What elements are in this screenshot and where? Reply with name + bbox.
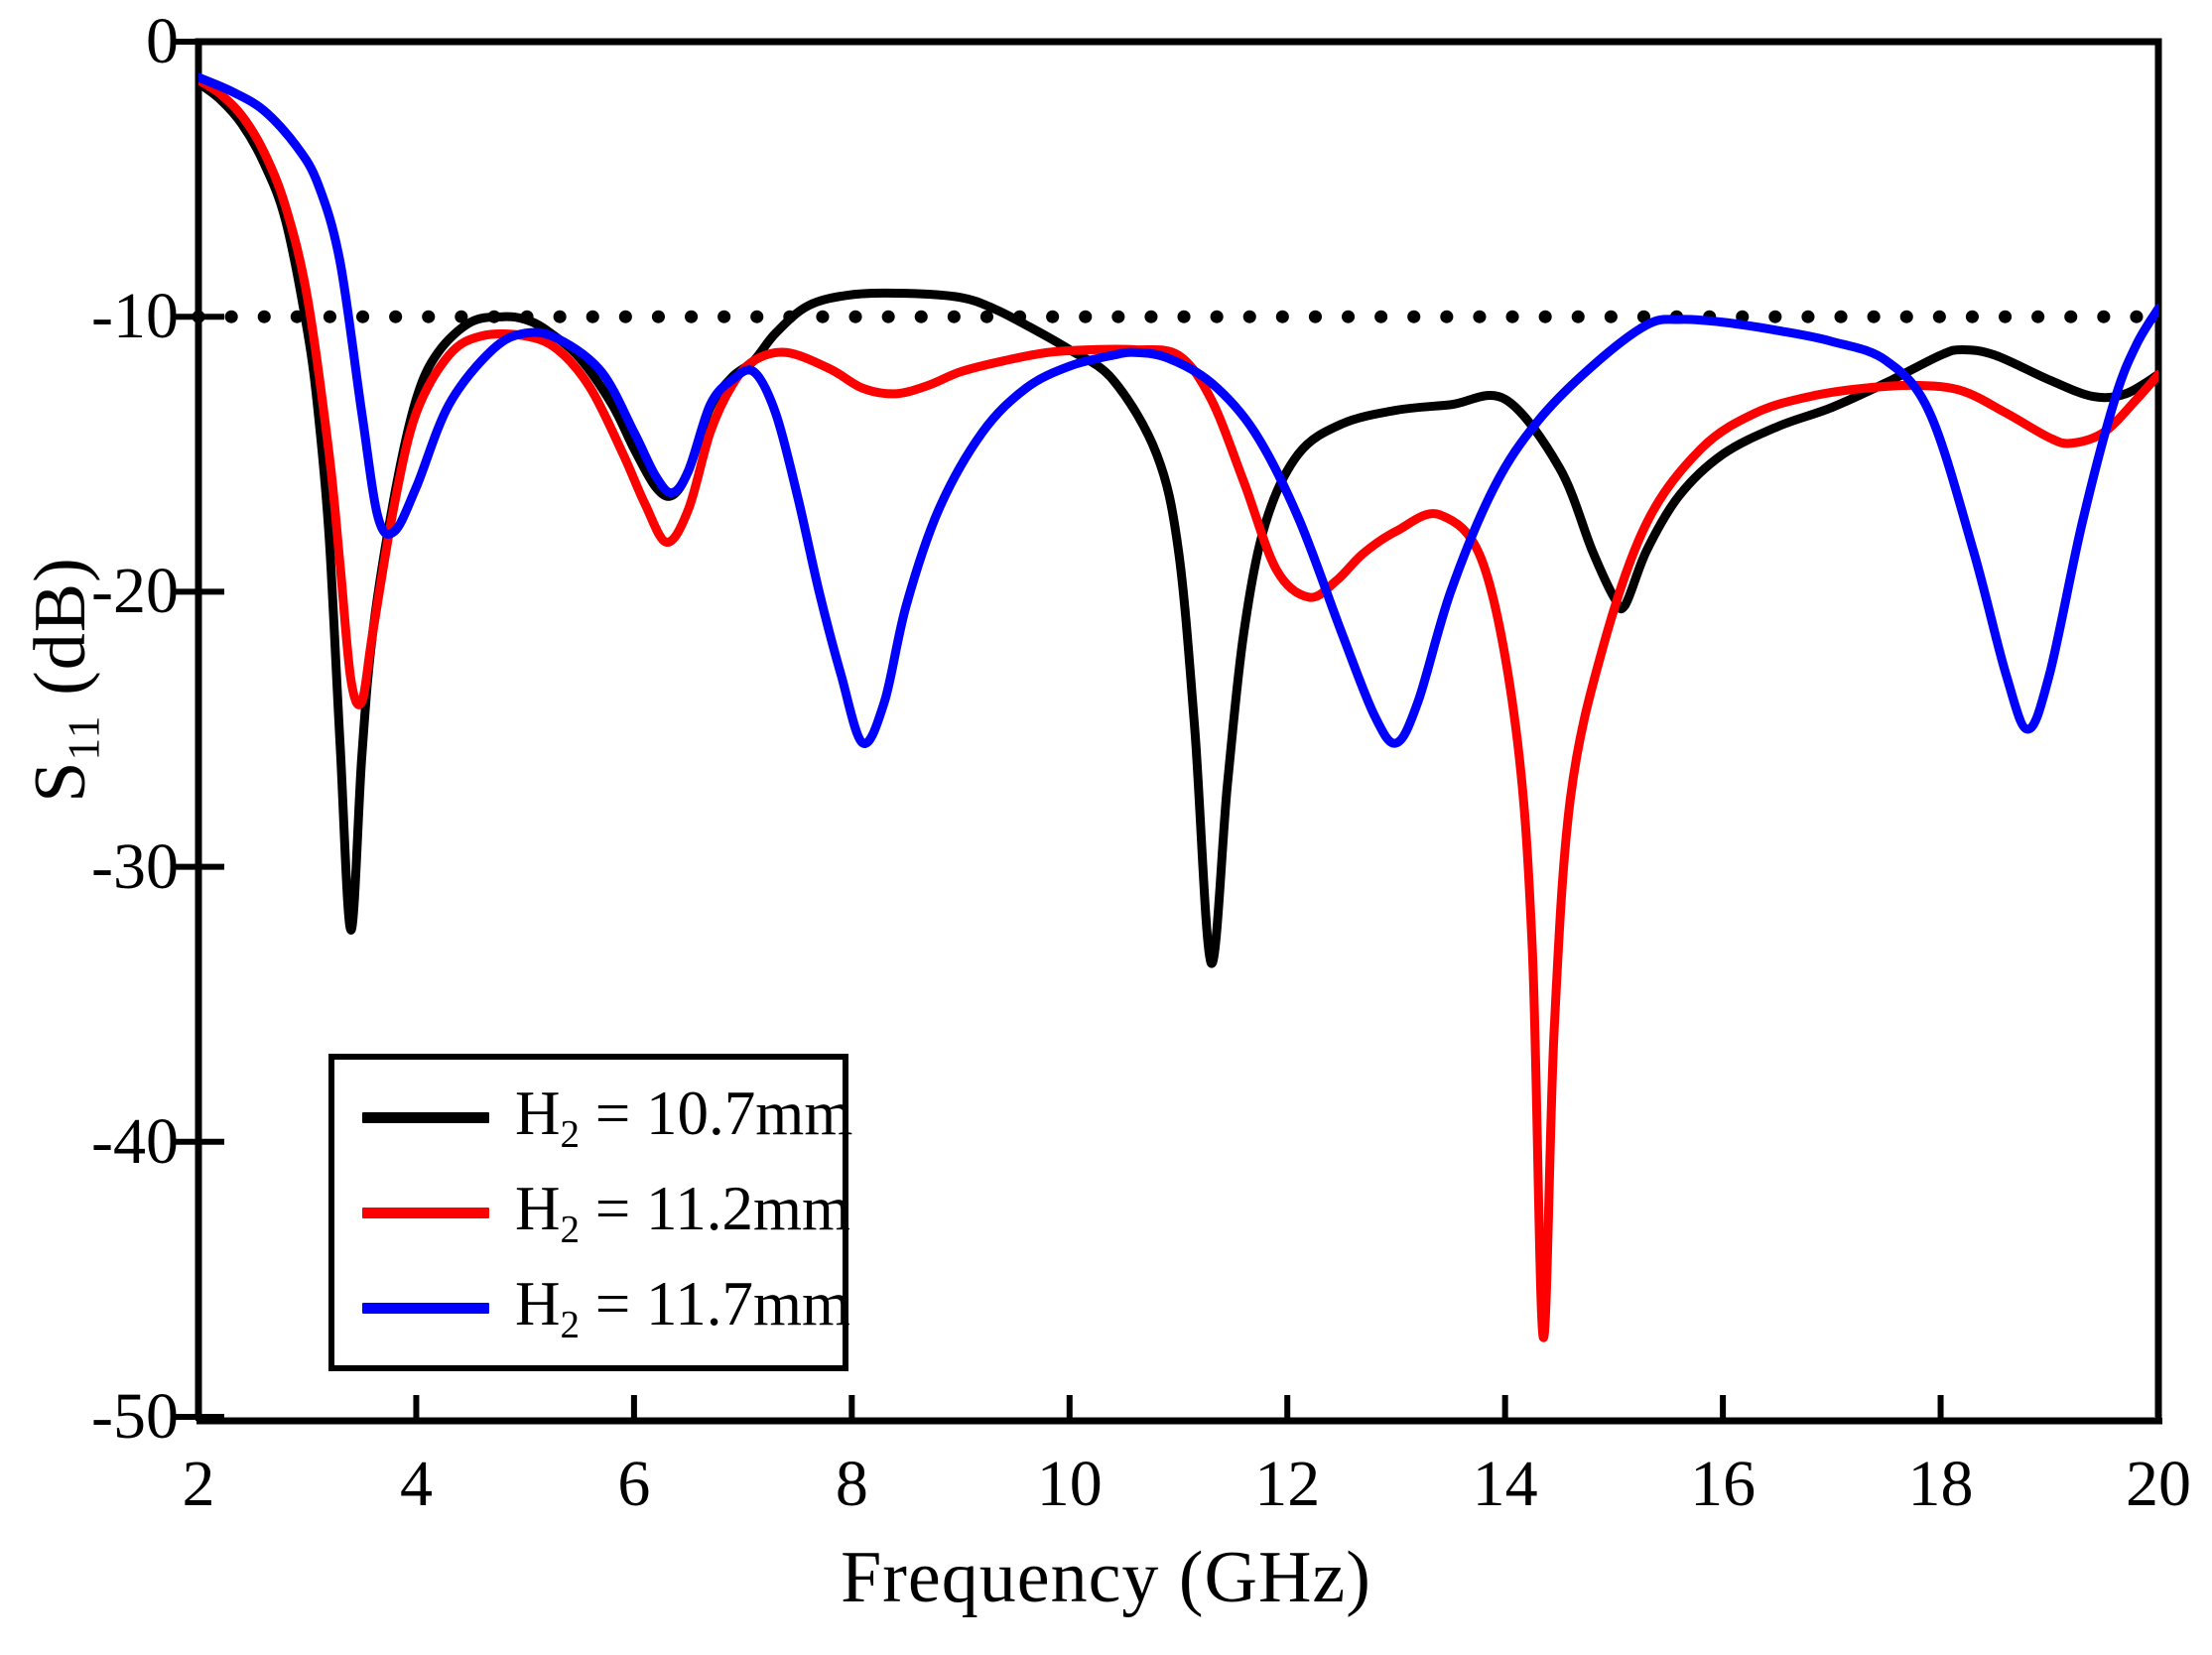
y-axis-label-text: S11 (dB) [19, 557, 110, 803]
x-tick-label-10: 10 [1037, 1447, 1103, 1522]
y-axis-label: S11 (dB) [20, 362, 109, 997]
legend-label-0: H2 = 10.7mm [515, 1078, 852, 1156]
legend-item-0: H2 = 10.7mm [334, 1070, 843, 1165]
legend: H2 = 10.7mm H2 = 11.2mm H2 = 11.7mm [328, 1054, 848, 1371]
legend-label-2: H2 = 11.7mm [515, 1268, 850, 1346]
x-tick-label-2: 2 [183, 1447, 215, 1522]
y-tick-label--40: -40 [40, 1104, 179, 1180]
legend-label-1: H2 = 11.2mm [515, 1173, 850, 1251]
x-tick-label-14: 14 [1473, 1447, 1538, 1522]
legend-swatch-blue [362, 1303, 489, 1314]
plot-canvas [0, 0, 2212, 1655]
y-tick-label--10: -10 [40, 279, 179, 354]
x-tick-label-16: 16 [1690, 1447, 1756, 1522]
x-axis-label-text: Frequency (GHz) [841, 1537, 1371, 1618]
legend-item-2: H2 = 11.7mm [334, 1260, 843, 1355]
x-tick-label-4: 4 [400, 1447, 433, 1522]
x-tick-label-6: 6 [617, 1447, 650, 1522]
series-line-0 [198, 83, 2158, 963]
legend-swatch-black [362, 1112, 489, 1123]
x-axis-label: Frequency (GHz) [0, 1536, 2212, 1620]
legend-swatch-red [362, 1208, 489, 1218]
x-tick-label-8: 8 [836, 1447, 868, 1522]
y-tick-label-0: 0 [40, 4, 179, 79]
x-tick-label-20: 20 [2126, 1447, 2191, 1522]
chart-figure: 2468101214161820 0-10-20-30-40-50 S11 (d… [0, 0, 2212, 1655]
legend-item-1: H2 = 11.2mm [334, 1165, 843, 1260]
x-tick-label-12: 12 [1254, 1447, 1320, 1522]
series-line-2 [198, 77, 2158, 743]
x-tick-label-18: 18 [1908, 1447, 1974, 1522]
y-tick-label--50: -50 [40, 1379, 179, 1455]
